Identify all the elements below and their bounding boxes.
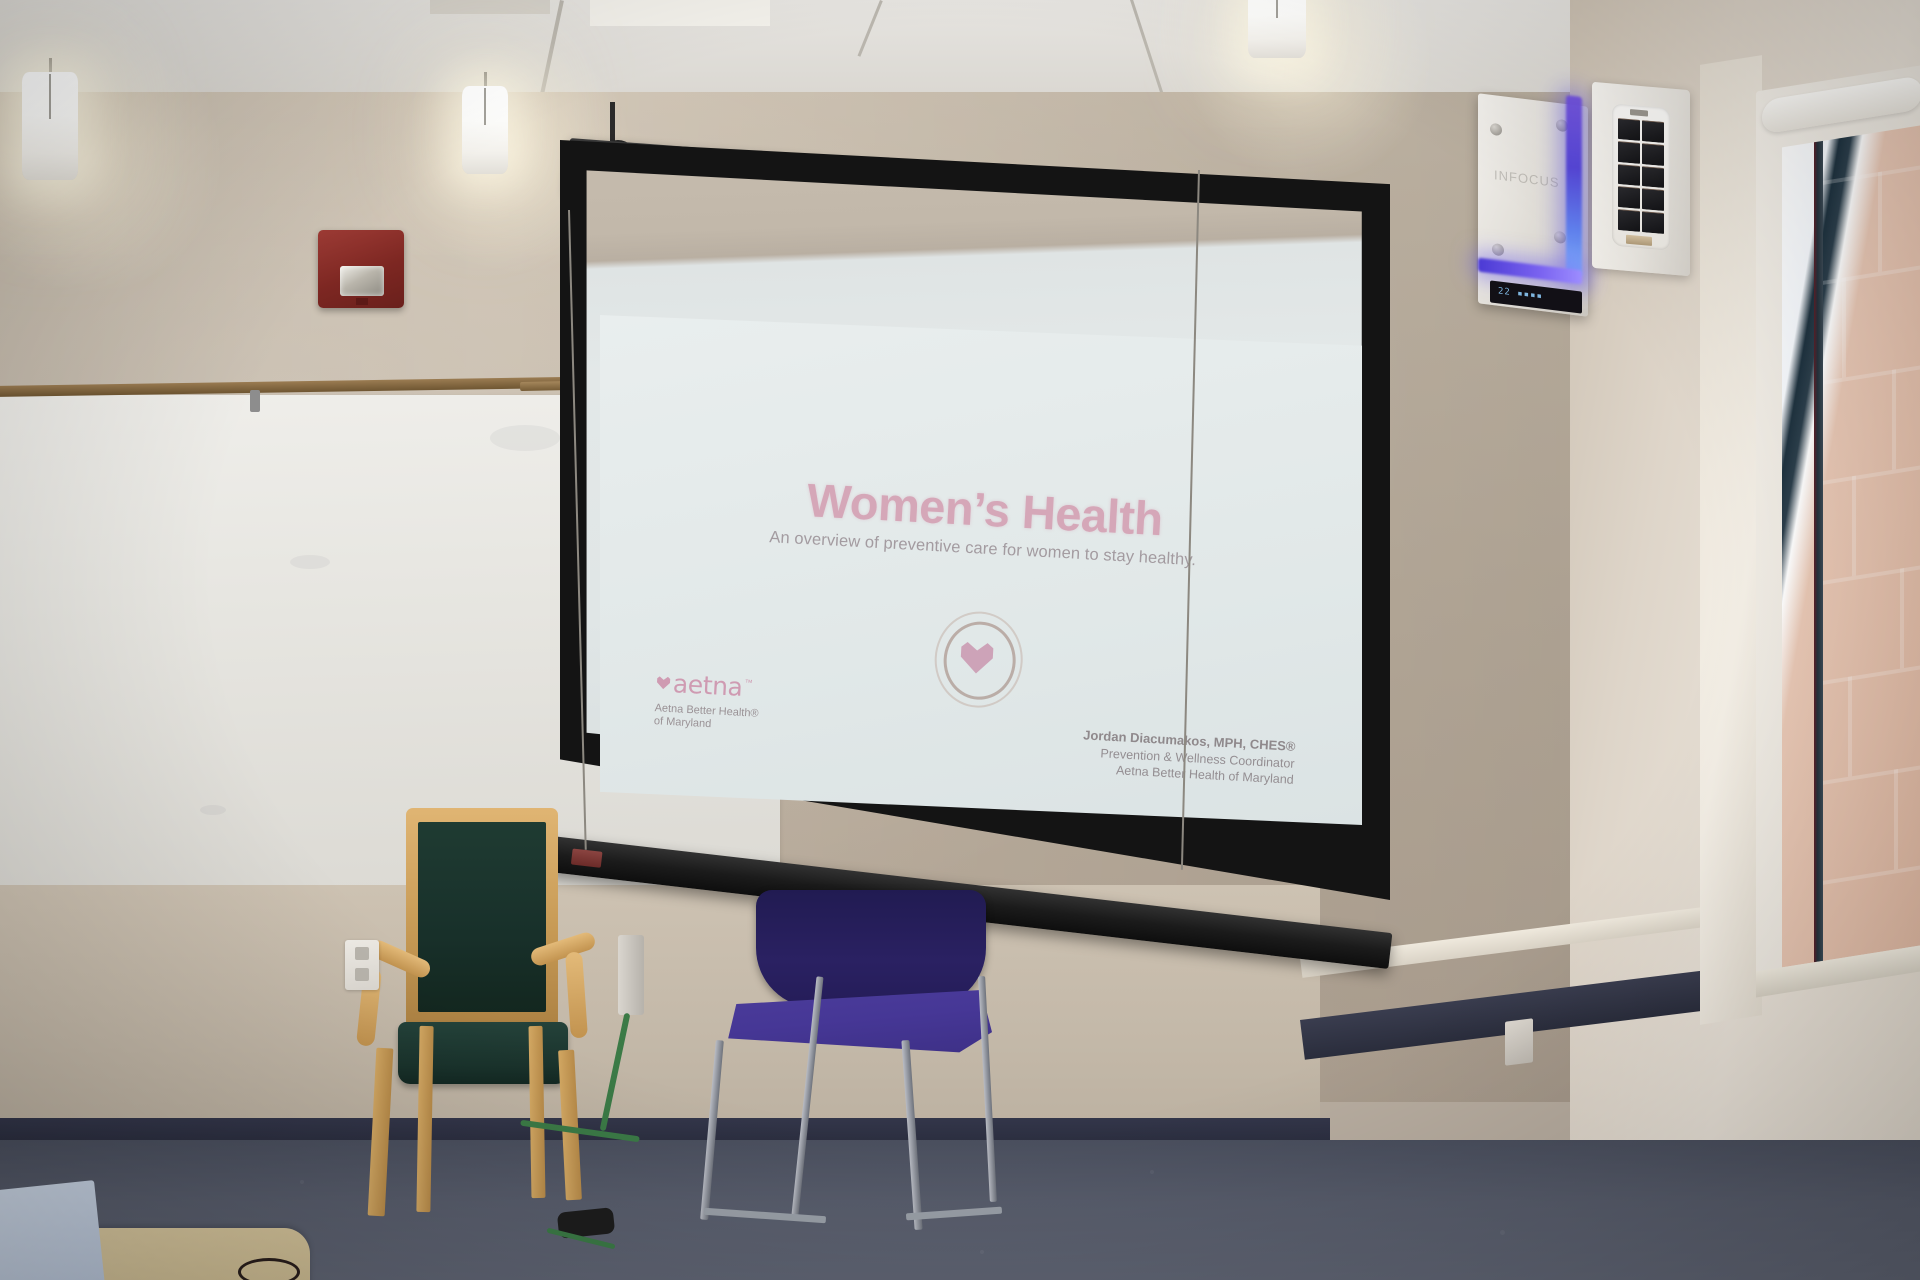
projector-status-text: 22 ▪▪▪▪ bbox=[1498, 286, 1543, 302]
wall-outlet[interactable] bbox=[345, 940, 379, 990]
strobe-lens bbox=[340, 266, 384, 296]
window-mullion bbox=[1814, 141, 1823, 962]
chair-leg-back-right bbox=[529, 1026, 546, 1198]
chair-back-upholstery bbox=[418, 822, 546, 1012]
chair-seat-shell bbox=[720, 990, 992, 1068]
projected-slide: Women’s Health An overview of preventive… bbox=[600, 315, 1362, 825]
projector-led-strip bbox=[1566, 95, 1582, 277]
wall-conduit-box bbox=[618, 935, 644, 1015]
room-photo-scene: INFOCUS 22 ▪▪▪▪ bbox=[0, 0, 1920, 1280]
aetna-heart-icon bbox=[656, 675, 672, 690]
strobe-notch bbox=[356, 298, 368, 305]
panel-button[interactable] bbox=[1642, 211, 1664, 234]
light-slit bbox=[49, 74, 51, 119]
aetna-brand-block: aetna ™ Aetna Better Health® of Maryland bbox=[653, 670, 760, 734]
heart-in-circle-icon bbox=[932, 609, 1021, 705]
window-glass bbox=[1782, 125, 1920, 968]
presenter-credit-block: Jordan Diacumakos, MPH, CHES® Prevention… bbox=[1081, 727, 1296, 787]
panel-button[interactable] bbox=[1618, 209, 1640, 232]
projector-brand-label: INFOCUS bbox=[1494, 167, 1560, 190]
ceiling-light-fixture-recessed bbox=[590, 0, 770, 26]
panel-button[interactable] bbox=[1618, 186, 1640, 209]
panel-button[interactable] bbox=[1642, 188, 1664, 211]
pendant-light-left bbox=[22, 72, 78, 180]
purple-stacking-chair[interactable] bbox=[720, 890, 1020, 1220]
fire-alarm-strobe bbox=[318, 230, 404, 308]
ceiling-light-fixture-recessed bbox=[430, 0, 550, 14]
wooden-armchair[interactable] bbox=[390, 800, 630, 1220]
pendant-light-center bbox=[462, 86, 508, 174]
chair-leg-back-left bbox=[416, 1026, 433, 1212]
chair-arm-right-rest bbox=[565, 952, 588, 1039]
light-slit bbox=[1276, 0, 1278, 18]
av-control-panel[interactable] bbox=[1592, 82, 1690, 277]
wall-data-plate bbox=[1505, 1018, 1533, 1065]
whiteboard-bracket bbox=[250, 390, 260, 412]
chair-leg-back-right bbox=[978, 976, 997, 1202]
panel-button[interactable] bbox=[1618, 118, 1640, 141]
pendant-light-right bbox=[1248, 0, 1306, 58]
foreground-paper bbox=[0, 1180, 105, 1280]
panel-button[interactable] bbox=[1618, 141, 1640, 164]
chair-back-shell bbox=[756, 890, 986, 1008]
window-reveal bbox=[1700, 55, 1762, 1025]
eyeglasses bbox=[238, 1258, 300, 1280]
light-slit bbox=[484, 88, 486, 125]
aetna-trademark-mark: ™ bbox=[745, 678, 753, 687]
panel-button[interactable] bbox=[1642, 120, 1664, 143]
exterior-window bbox=[1756, 65, 1920, 992]
aetna-wordmark: aetna bbox=[672, 671, 743, 700]
panel-button-grid[interactable] bbox=[1618, 118, 1664, 234]
panel-button[interactable] bbox=[1642, 166, 1664, 189]
panel-button[interactable] bbox=[1618, 164, 1640, 187]
panel-button[interactable] bbox=[1642, 143, 1664, 166]
chair-leg-front-right bbox=[901, 1040, 922, 1230]
